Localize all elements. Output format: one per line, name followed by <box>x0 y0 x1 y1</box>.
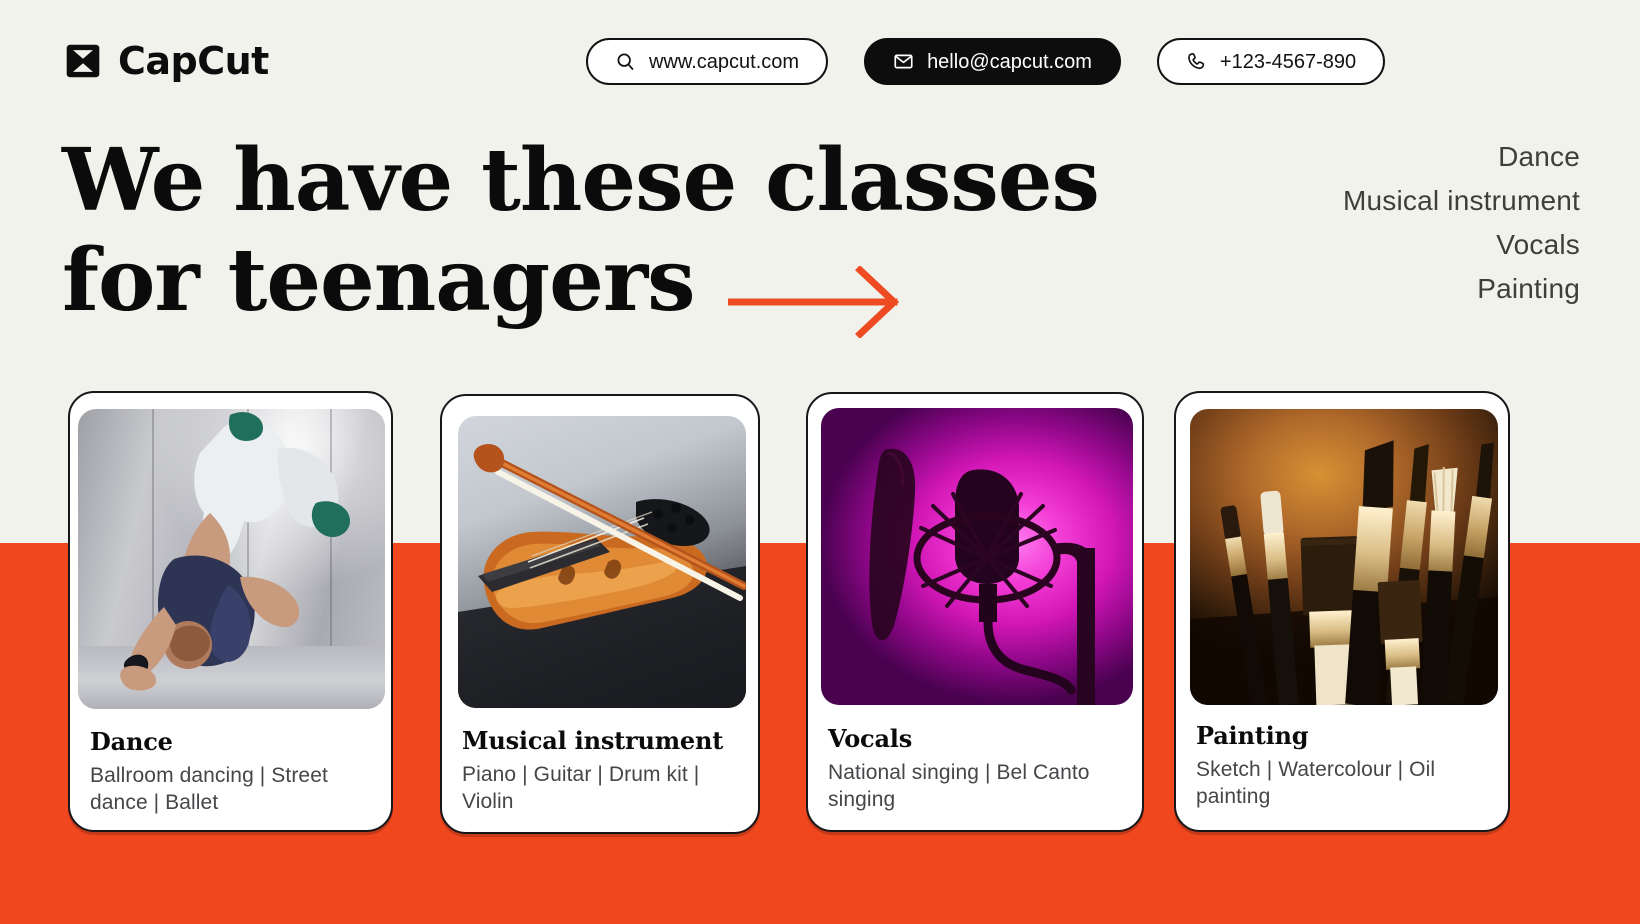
class-card-musical-instrument[interactable]: Musical instrument Piano | Guitar | Drum… <box>440 394 760 834</box>
class-card-grid: Dance Ballroom dancing | Street dance | … <box>0 0 1640 924</box>
class-card-painting[interactable]: Painting Sketch | Watercolour | Oil pain… <box>1174 391 1510 832</box>
card-description-painting: Sketch | Watercolour | Oil painting <box>1196 757 1494 811</box>
card-image-painting <box>1190 409 1498 705</box>
card-title-musical-instrument: Musical instrument <box>462 728 744 754</box>
card-text-dance: Dance Ballroom dancing | Street dance | … <box>90 729 377 817</box>
card-title-painting: Painting <box>1196 723 1494 749</box>
card-image-vocals <box>821 408 1133 705</box>
class-card-dance[interactable]: Dance Ballroom dancing | Street dance | … <box>68 391 393 832</box>
card-text-musical-instrument: Musical instrument Piano | Guitar | Drum… <box>462 728 744 816</box>
class-card-vocals[interactable]: Vocals National singing | Bel Canto sing… <box>806 392 1144 832</box>
card-text-painting: Painting Sketch | Watercolour | Oil pain… <box>1196 723 1494 811</box>
card-description-vocals: National singing | Bel Canto singing <box>828 760 1128 814</box>
card-description-musical-instrument: Piano | Guitar | Drum kit | Violin <box>462 762 744 816</box>
card-image-musical-instrument <box>458 416 746 708</box>
card-description-dance: Ballroom dancing | Street dance | Ballet <box>90 763 377 817</box>
card-title-dance: Dance <box>90 729 377 755</box>
card-text-vocals: Vocals National singing | Bel Canto sing… <box>828 726 1128 814</box>
card-title-vocals: Vocals <box>828 726 1128 752</box>
card-image-dance <box>78 409 385 709</box>
